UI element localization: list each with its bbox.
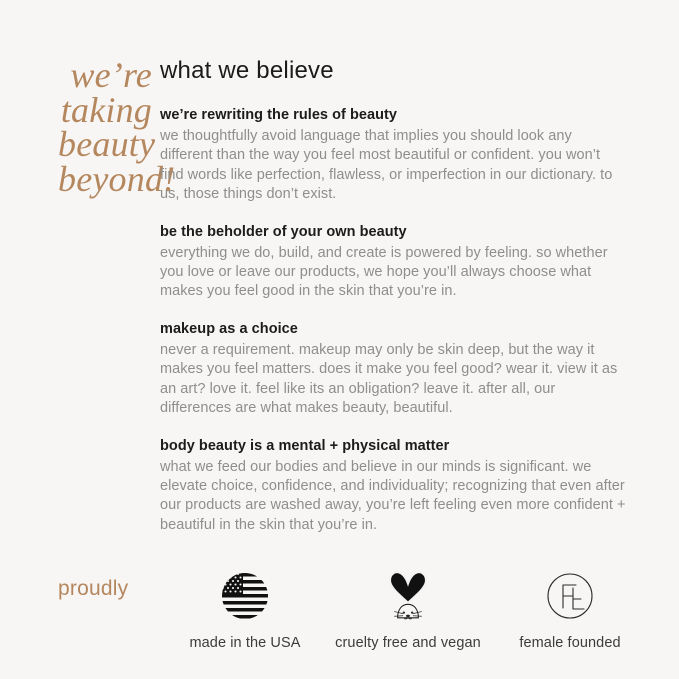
belief-heading: we’re rewriting the rules of beauty [160, 106, 627, 126]
belief-block-rewriting-rules: we’re rewriting the rules of beauty we t… [160, 106, 627, 204]
badge-female-founded: female founded [489, 568, 651, 651]
headline-line-1: we’re [58, 58, 152, 93]
headline-line-2: taking [58, 93, 152, 128]
proudly-label: proudly [58, 577, 128, 601]
badge-cruelty-free: cruelty free and vegan [325, 568, 491, 651]
belief-block-beholder: be the beholder of your own beauty every… [160, 223, 627, 301]
footer-badges: proudly [0, 560, 679, 670]
usa-flag-circle-icon [162, 568, 328, 624]
belief-block-body-beauty: body beauty is a mental + physical matte… [160, 437, 627, 535]
belief-body: everything we do, build, and create is p… [160, 244, 627, 302]
badge-label: cruelty free and vegan [325, 635, 491, 651]
belief-body: never a requirement. makeup may only be … [160, 341, 627, 418]
cruelty-free-bunny-heart-icon [325, 568, 491, 624]
female-founded-monogram-icon [489, 568, 651, 624]
badge-made-in-usa: made in the USA [162, 568, 328, 651]
content-area: we’re taking beauty beyond! what we beli… [0, 58, 679, 535]
belief-body: what we feed our bodies and believe in o… [160, 458, 627, 535]
badge-label: female founded [489, 635, 651, 651]
page-title: what we believe [160, 58, 627, 84]
belief-block-makeup-choice: makeup as a choice never a requirement. … [160, 320, 627, 418]
badge-label: made in the USA [162, 635, 328, 651]
brand-headline: we’re taking beauty beyond! [58, 58, 152, 196]
headline-line-4: beyond! [58, 162, 152, 197]
belief-heading: be the beholder of your own beauty [160, 223, 627, 243]
belief-heading: makeup as a choice [160, 320, 627, 340]
belief-heading: body beauty is a mental + physical matte… [160, 437, 627, 457]
two-column-layout: we’re taking beauty beyond! what we beli… [0, 58, 679, 535]
belief-body: we thoughtfully avoid language that impl… [160, 127, 627, 204]
brand-values-panel: we’re taking beauty beyond! what we beli… [0, 0, 679, 679]
headline-line-3: beauty [58, 127, 152, 162]
headline-column: we’re taking beauty beyond! [0, 58, 152, 196]
beliefs-column: what we believe we’re rewriting the rule… [152, 58, 679, 535]
